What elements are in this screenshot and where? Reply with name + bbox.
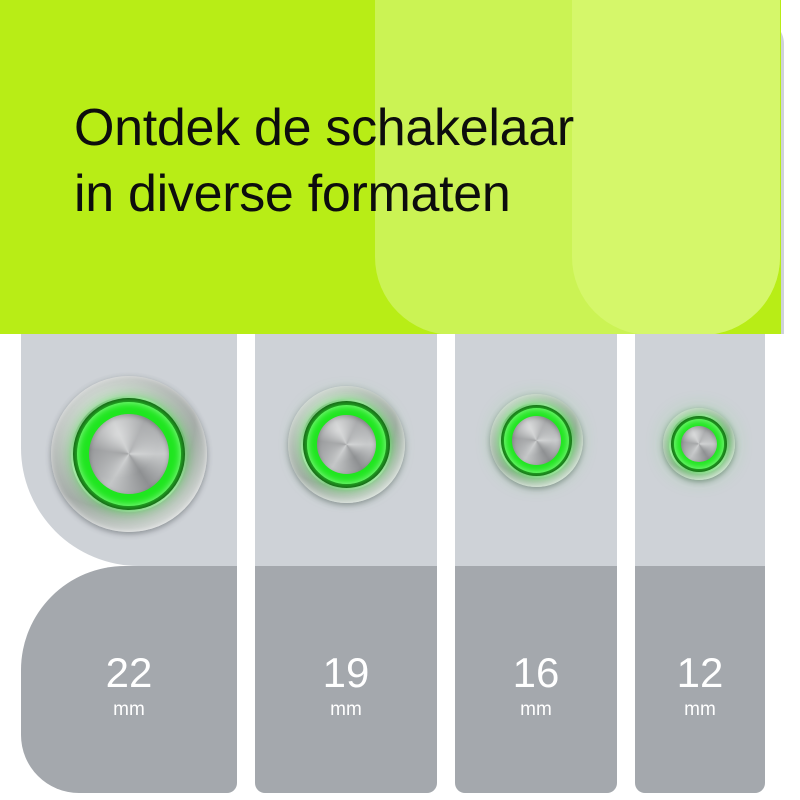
product-column-22mm[interactable]: 22 mm [21,334,237,800]
size-label-card: 16 mm [455,566,617,793]
switch-face[interactable] [681,426,717,462]
switch-face[interactable] [512,416,561,465]
switch-face-sheen [512,416,561,465]
hero-banner: Ontdek de schakelaar in diverse formaten [0,0,800,334]
size-value: 22 [21,652,237,694]
switch-button-22mm[interactable] [51,376,207,532]
product-column-19mm[interactable]: 19 mm [255,334,437,800]
product-column-16mm[interactable]: 16 mm [455,334,617,800]
size-label-card: 19 mm [255,566,437,793]
size-unit: mm [635,700,765,719]
switch-button-12mm[interactable] [663,408,735,480]
product-columns: 22 mm 19 mm [0,334,800,800]
switch-face-sheen [317,415,376,474]
size-value: 16 [455,652,617,694]
switch-face-sheen [89,414,169,494]
product-image-panel [21,334,237,566]
switch-button-16mm[interactable] [490,394,583,487]
size-unit: mm [255,700,437,719]
size-unit: mm [455,700,617,719]
product-image-panel [635,334,765,566]
product-column-12mm[interactable]: 12 mm [635,334,765,800]
size-value: 19 [255,652,437,694]
size-unit: mm [21,700,237,719]
product-image-panel [455,334,617,566]
size-value: 12 [635,652,765,694]
switch-face[interactable] [89,414,169,494]
switch-button-19mm[interactable] [288,386,405,503]
size-label-card: 12 mm [635,566,765,793]
product-image-panel [255,334,437,566]
size-label-card: 22 mm [21,566,237,793]
page-title: Ontdek de schakelaar in diverse formaten [74,95,734,227]
switch-face-sheen [681,426,717,462]
product-size-banner: Ontdek de schakelaar in diverse formaten… [0,0,800,800]
switch-face[interactable] [317,415,376,474]
